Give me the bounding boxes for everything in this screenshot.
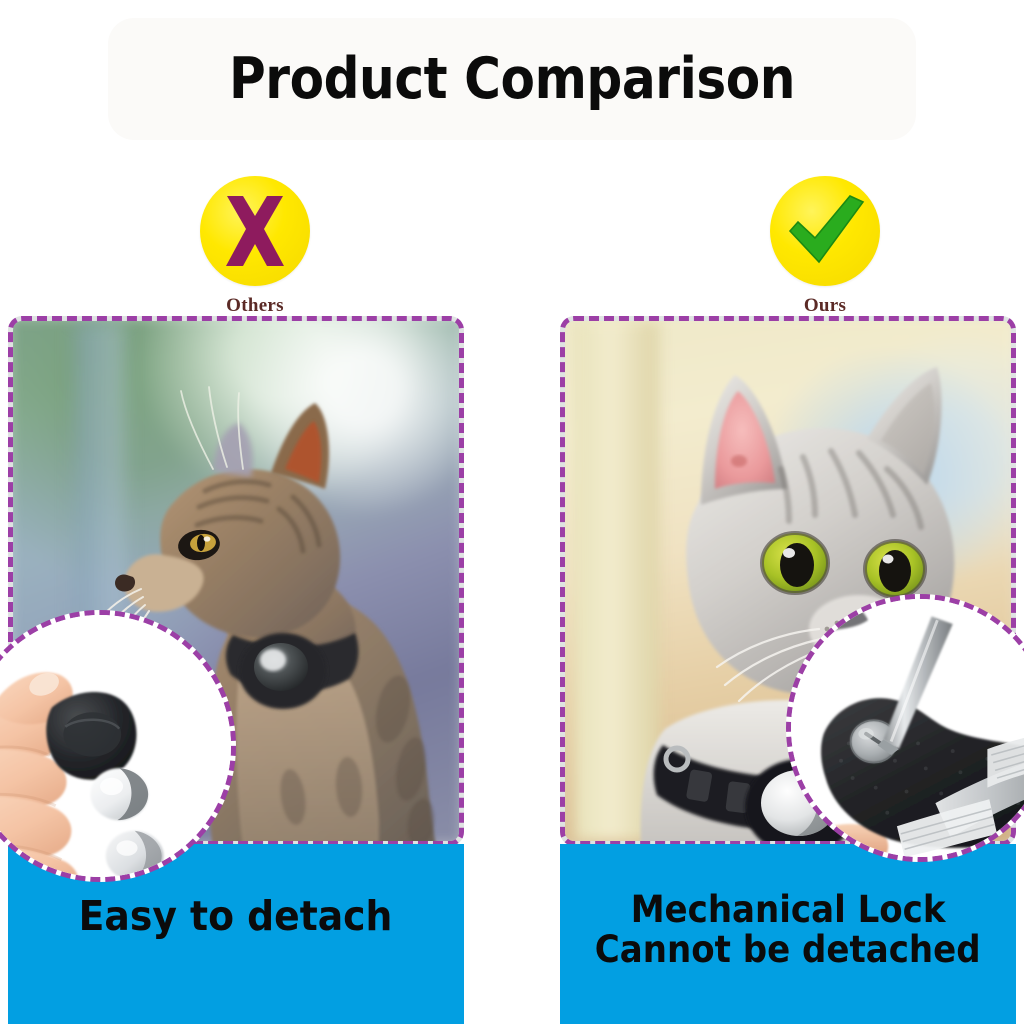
badge-label-ours: Ours <box>705 295 945 317</box>
badge-ours: Ours <box>705 176 945 317</box>
caption-line: Mechanical Lock <box>631 890 946 930</box>
caption-banner-ours: Mechanical Lock Cannot be detached <box>560 844 1016 1024</box>
comparison-infographic: Product Comparison Others Ours <box>0 0 1024 1024</box>
check-mark-icon <box>770 176 880 286</box>
caption-line: Cannot be detached <box>595 930 981 970</box>
badge-label-others: Others <box>135 295 375 317</box>
badge-circle-ours <box>770 176 880 286</box>
comparison-column-ours: Mechanical Lock Cannot be detached <box>560 316 1016 1024</box>
comparison-column-others: Easy to detach <box>8 316 464 1024</box>
inset-circle-others <box>0 610 236 882</box>
badge-circle-others <box>200 176 310 286</box>
inset-illustration-detach <box>0 615 231 877</box>
inset-circle-ours <box>786 594 1024 862</box>
cross-mark-icon <box>200 176 310 286</box>
inset-illustration-mechanical-lock <box>791 599 1024 857</box>
badge-others: Others <box>135 176 375 317</box>
page-title: Product Comparison <box>61 46 962 112</box>
caption-line: Easy to detach <box>79 894 393 938</box>
